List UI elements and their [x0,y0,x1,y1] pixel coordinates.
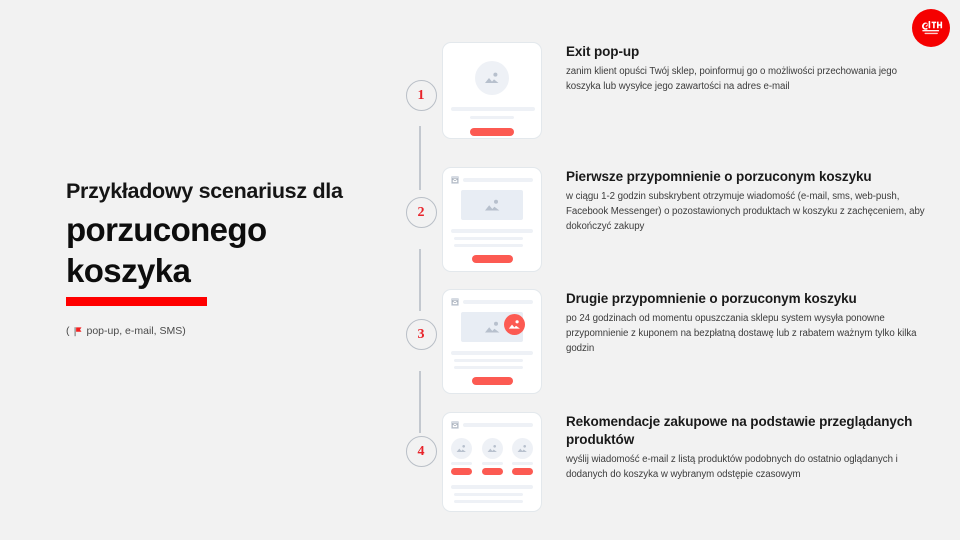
step-description-4: wyślij wiadomość e-mail z listą produktó… [566,452,930,482]
picture-icon [482,438,503,459]
mock-header-row [451,421,533,429]
mock-cta-button [470,128,514,136]
mock-header-bar [463,300,533,304]
mock-product-label [451,462,472,465]
mock-product-label [482,462,503,465]
picture-icon [484,198,501,212]
timeline-step-3: 3 [400,289,930,394]
step-description-1: zanim klient opuści Twój sklep, poinform… [566,64,930,94]
mail-icon [451,176,459,184]
mock-product-row [451,438,533,475]
step-number-1: 1 [406,80,437,111]
step-number-2: 2 [406,197,437,228]
step-description-2: w ciągu 1-2 godzin subskrybent otrzymuje… [566,189,930,235]
mail-icon [451,298,459,306]
mock-text-line-3 [454,366,523,369]
step-marker-1: 1 [400,42,442,111]
email-with-badge-mockup [442,289,542,394]
step-text-2: Pierwsze przypomnienie o porzuconym kosz… [542,167,930,235]
mock-cta-button [472,377,513,385]
step-number-4: 4 [406,436,437,467]
step-number-3: 3 [406,319,437,350]
mock-image-block [461,312,523,342]
timeline-step-1: 1 [400,42,930,139]
step-title-2: Pierwsze przypomnienie o porzuconym kosz… [566,168,930,186]
mock-image-circle [475,61,509,95]
step-marker-3: 3 [400,289,442,350]
mock-product-3 [512,438,533,475]
step-title-1: Exit pop-up [566,43,930,61]
step-text-3: Drugie przypomnienie o porzuconym koszyk… [542,289,930,357]
mock-image-block [461,190,523,220]
timeline: 1 [0,0,960,540]
mock-text-line-3 [454,500,523,503]
email-mockup [442,167,542,272]
mock-header-bar [463,423,533,427]
mock-text-line-1 [451,229,533,233]
mock-header-bar [463,178,533,182]
step-text-1: Exit pop-up zanim klient opuści Twój skl… [542,42,930,94]
mock-text-line-2 [470,116,514,119]
step-title-3: Drugie przypomnienie o porzuconym koszyk… [566,290,930,308]
mock-text-line-2 [454,359,523,362]
step-marker-4: 4 [400,412,442,467]
step-marker-2: 2 [400,167,442,228]
product-recommendation-mockup [442,412,542,512]
picture-icon [484,320,501,334]
mock-product-cta [512,468,533,475]
step-text-4: Rekomendacje zakupowe na podstawie przeg… [542,412,930,482]
mock-product-2 [482,438,503,475]
picture-icon [451,438,472,459]
mock-text-line-2 [454,493,523,496]
mock-product-1 [451,438,472,475]
step-description-3: po 24 godzinach od momentu opuszczania s… [566,311,930,357]
mock-product-cta [451,468,472,475]
mock-text-line-1 [451,107,535,111]
picture-icon [484,71,500,85]
step-title-4: Rekomendacje zakupowe na podstawie przeg… [566,413,930,449]
mock-text-line-1 [451,485,533,489]
mock-header-row [451,298,533,306]
mock-header-row [451,176,533,184]
slide-canvas: Przykładowy scenariusz dla porzuconego k… [0,0,960,540]
mock-text-line-1 [451,351,533,355]
mock-text-line-3 [454,244,523,247]
popup-mockup [442,42,542,139]
mock-text-line-2 [454,237,523,240]
mail-icon [451,421,459,429]
mock-product-cta [482,468,503,475]
picture-icon [512,438,533,459]
timeline-step-2: 2 [400,167,930,272]
highlight-badge-icon [504,314,525,335]
timeline-step-4: 4 [400,412,930,512]
mock-product-label [512,462,533,465]
mock-cta-button [472,255,513,263]
